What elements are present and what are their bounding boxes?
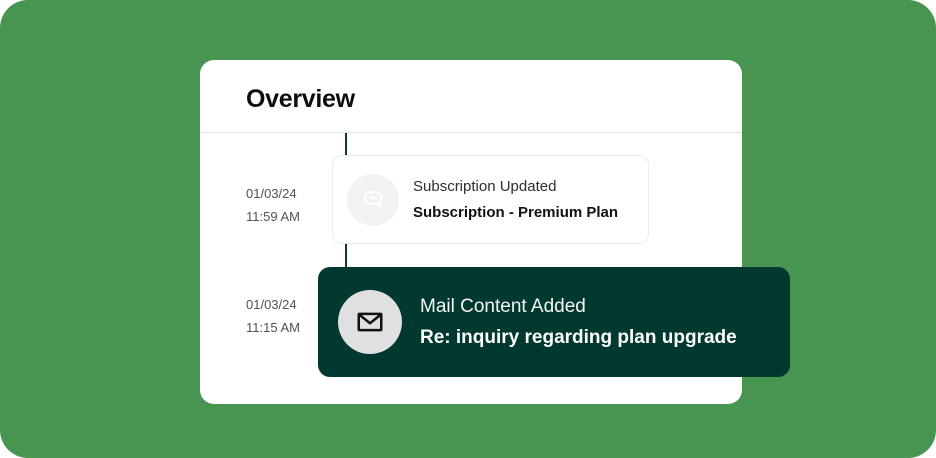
event-text: Mail Content Added Re: inquiry regarding…: [420, 294, 737, 351]
timeline-event-card-highlighted[interactable]: Mail Content Added Re: inquiry regarding…: [318, 267, 790, 377]
app-background: Overview 01/03/24 11:59 AM Subscription …: [0, 0, 936, 458]
event-date: 01/03/24: [246, 183, 297, 204]
event-title: Subscription - Premium Plan: [413, 202, 618, 224]
chat-bubble-icon: [360, 187, 386, 213]
event-title: Re: inquiry regarding plan upgrade: [420, 325, 737, 351]
timeline-event-card[interactable]: Subscription Updated Subscription - Prem…: [332, 155, 649, 244]
panel-header: Overview: [200, 60, 742, 133]
event-kind: Subscription Updated: [413, 176, 618, 198]
event-time: 11:15 AM: [246, 317, 300, 338]
event-date: 01/03/24: [246, 294, 297, 315]
avatar: [347, 174, 399, 226]
page-title: Overview: [246, 84, 355, 114]
event-kind: Mail Content Added: [420, 294, 737, 320]
avatar: [338, 290, 402, 354]
event-time: 11:59 AM: [246, 206, 300, 227]
mail-icon: [355, 307, 385, 337]
event-text: Subscription Updated Subscription - Prem…: [413, 176, 618, 224]
